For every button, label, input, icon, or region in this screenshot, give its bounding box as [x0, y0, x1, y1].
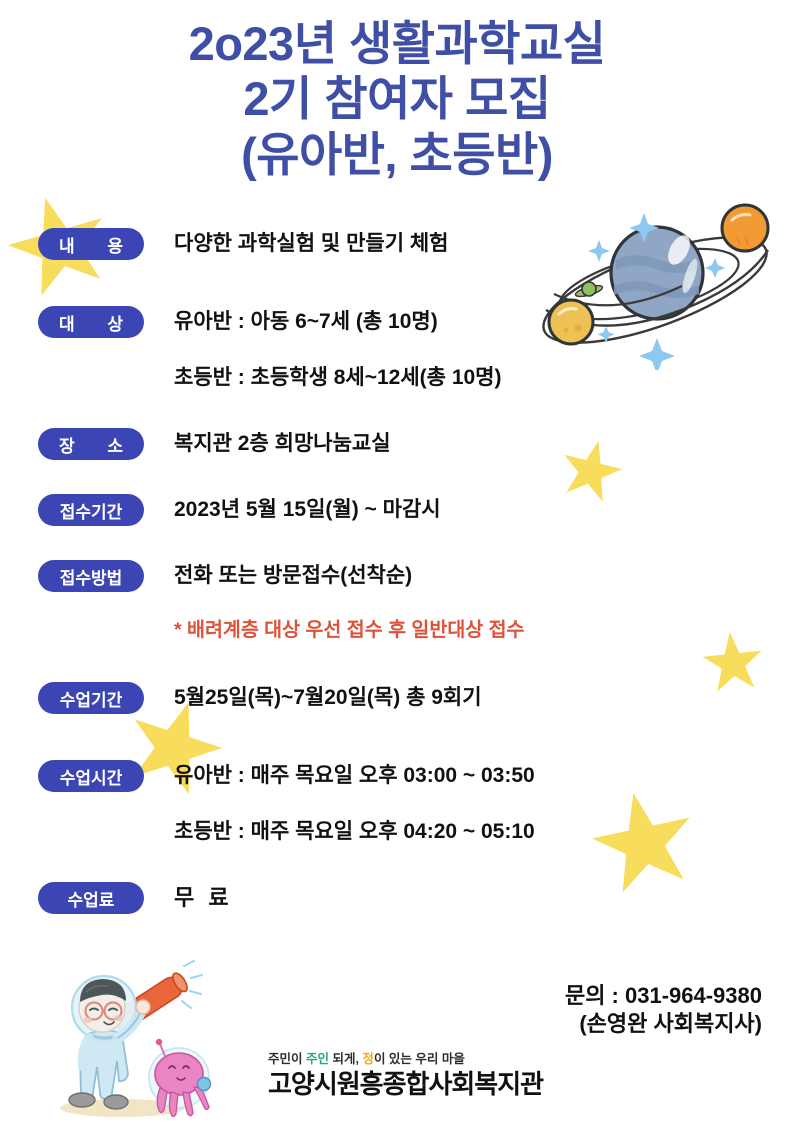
- contact-person: (손영완 사회복지사): [565, 1010, 762, 1038]
- tagline-part-1: 주민이: [268, 1052, 306, 1066]
- value-place: 복지관 2층 희망나눔교실: [174, 428, 794, 455]
- footer-logo-block: 주민이 주인 되게, 정이 있는 우리 마을 고양시원흥종합사회복지관: [268, 1052, 543, 1099]
- row-content: 내 용 다양한 과학실험 및 만들기 체험: [0, 228, 794, 260]
- row-apply-period: 접수기간 2023년 5월 15일(월) ~ 마감시: [0, 494, 794, 526]
- value-apply-period: 2023년 5월 15일(월) ~ 마감시: [174, 494, 794, 521]
- organization-name: 고양시원흥종합사회복지관: [268, 1070, 543, 1099]
- title-line-2: 2기 참여자 모집: [0, 71, 794, 126]
- contact-phone: 문의 : 031-964-9380: [565, 982, 762, 1010]
- row-class-time: 수업시간 유아반 : 매주 목요일 오후 03:00 ~ 03:50: [0, 760, 794, 792]
- value-target-elementary: 초등반 : 초등학생 8세~12세(총 10명): [174, 362, 794, 389]
- row-target: 대 상 유아반 : 아동 6~7세 (총 10명): [0, 306, 794, 338]
- row-class-period: 수업기간 5월25일(목)~7월20일(목) 총 9회기: [0, 682, 794, 714]
- tagline-highlight-1: 주인: [306, 1052, 329, 1066]
- tagline-highlight-2: 정: [362, 1052, 374, 1066]
- value-apply-note: * 배려계층 대상 우선 접수 후 일반대상 접수: [174, 616, 794, 641]
- row-apply-note: * 배려계층 대상 우선 접수 후 일반대상 접수: [0, 616, 794, 648]
- badge-apply-method: 접수방법: [38, 560, 144, 592]
- value-content: 다양한 과학실험 및 만들기 체험: [174, 228, 794, 255]
- badge-fee: 수업료: [38, 882, 144, 914]
- title-line-1: 2o23년 생활과학교실: [0, 16, 794, 71]
- badge-class-time: 수업시간: [38, 760, 144, 792]
- value-class-time-infant: 유아반 : 매주 목요일 오후 03:00 ~ 03:50: [174, 760, 794, 787]
- row-place: 장 소 복지관 2층 희망나눔교실: [0, 428, 794, 460]
- info-rows: 내 용 다양한 과학실험 및 만들기 체험 대 상 유아반 : 아동 6~7세 …: [0, 228, 794, 914]
- value-target-infant: 유아반 : 아동 6~7세 (총 10명): [174, 306, 794, 333]
- value-class-time-elementary: 초등반 : 매주 목요일 오후 04:20 ~ 05:10: [174, 816, 794, 843]
- row-class-time-second: 초등반 : 매주 목요일 오후 04:20 ~ 05:10: [0, 816, 794, 848]
- badge-spacer: [38, 816, 144, 848]
- title-line-3: (유아반, 초등반): [0, 127, 794, 182]
- value-fee: 무 료: [174, 882, 794, 910]
- badge-place: 장 소: [38, 428, 144, 460]
- astronaut-boy-illustration: [44, 958, 239, 1118]
- footer-tagline: 주민이 주인 되게, 정이 있는 우리 마을: [268, 1052, 543, 1067]
- contact-block: 문의 : 031-964-9380 (손영완 사회복지사): [565, 982, 762, 1038]
- row-fee: 수업료 무 료: [0, 882, 794, 914]
- badge-target: 대 상: [38, 306, 144, 338]
- badge-content: 내 용: [38, 228, 144, 260]
- badge-spacer: [38, 362, 144, 394]
- badge-apply-period: 접수기간: [38, 494, 144, 526]
- tagline-part-3: 이 있는 우리 마을: [374, 1052, 465, 1066]
- poster-title: 2o23년 생활과학교실 2기 참여자 모집 (유아반, 초등반): [0, 16, 794, 182]
- tagline-part-2: 되게,: [329, 1052, 362, 1066]
- badge-class-period: 수업기간: [38, 682, 144, 714]
- row-target-second: 초등반 : 초등학생 8세~12세(총 10명): [0, 362, 794, 394]
- value-apply-method: 전화 또는 방문접수(선착순): [174, 560, 794, 587]
- row-apply-method: 접수방법 전화 또는 방문접수(선착순): [0, 560, 794, 592]
- badge-spacer: [38, 616, 144, 648]
- value-class-period: 5월25일(목)~7월20일(목) 총 9회기: [174, 682, 794, 709]
